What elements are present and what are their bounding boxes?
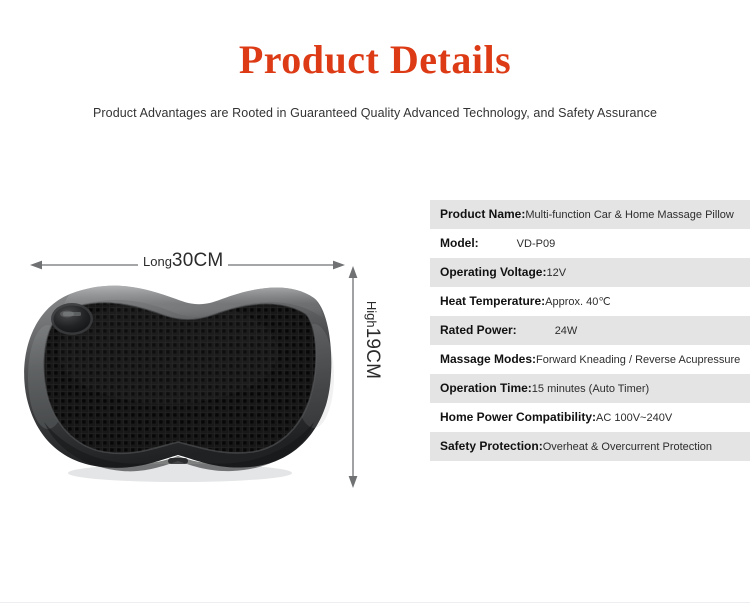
dimension-long: Long30CM — [30, 254, 345, 276]
spec-label: Safety Protection: — [440, 439, 543, 453]
spec-value: 12V — [546, 267, 566, 279]
spec-value: Approx. 40℃ — [545, 296, 611, 308]
dimension-high-prefix: High — [364, 301, 379, 328]
spec-value: 24W — [555, 325, 578, 337]
table-row: Rated Power:24W — [430, 316, 750, 345]
table-row: Home Power Compatibility:AC 100V~240V — [430, 403, 750, 432]
spec-label: Massage Modes: — [440, 352, 536, 366]
spec-label: Model: — [440, 236, 479, 250]
dimension-long-label: Long30CM — [138, 250, 228, 272]
massage-pillow-photo — [18, 272, 338, 487]
table-row: Model:VD-P09 — [430, 229, 750, 258]
spec-label: Rated Power: — [440, 323, 517, 337]
table-row: Safety Protection:Overheat & Overcurrent… — [430, 432, 750, 461]
dimension-high-value: 19CM — [362, 328, 383, 379]
table-row: Heat Temperature:Approx. 40℃ — [430, 287, 750, 316]
spec-label: Product Name: — [440, 207, 525, 221]
spec-value: 15 minutes (Auto Timer) — [532, 383, 649, 395]
page-title: Product Details — [0, 0, 750, 80]
power-button-icon — [51, 303, 93, 335]
dimension-long-value: 30CM — [172, 250, 223, 271]
dimension-high: High19CM — [336, 266, 370, 488]
spec-label: Home Power Compatibility: — [440, 410, 596, 424]
spec-label: Operating Voltage: — [440, 265, 546, 279]
spec-value: Multi-function Car & Home Massage Pillow — [525, 209, 733, 221]
spec-value: Overheat & Overcurrent Protection — [543, 441, 712, 453]
table-row: Operating Voltage:12V — [430, 258, 750, 287]
spec-value: VD-P09 — [517, 238, 556, 250]
spec-label: Operation Time: — [440, 381, 532, 395]
table-row: Product Name:Multi-function Car & Home M… — [430, 200, 750, 229]
dimension-long-prefix: Long — [143, 254, 172, 269]
spec-label: Heat Temperature: — [440, 294, 545, 308]
spec-value: AC 100V~240V — [596, 412, 672, 424]
table-row: Operation Time:15 minutes (Auto Timer) — [430, 374, 750, 403]
spec-value: Forward Kneading / Reverse Acupressure — [536, 354, 740, 366]
dimension-high-label: High19CM — [360, 288, 384, 392]
page-subtitle: Product Advantages are Rooted in Guarant… — [0, 80, 750, 120]
page-header: Product Details Product Advantages are R… — [0, 0, 750, 120]
table-row: Massage Modes:Forward Kneading / Reverse… — [430, 345, 750, 374]
specification-table: Product Name:Multi-function Car & Home M… — [430, 200, 750, 461]
